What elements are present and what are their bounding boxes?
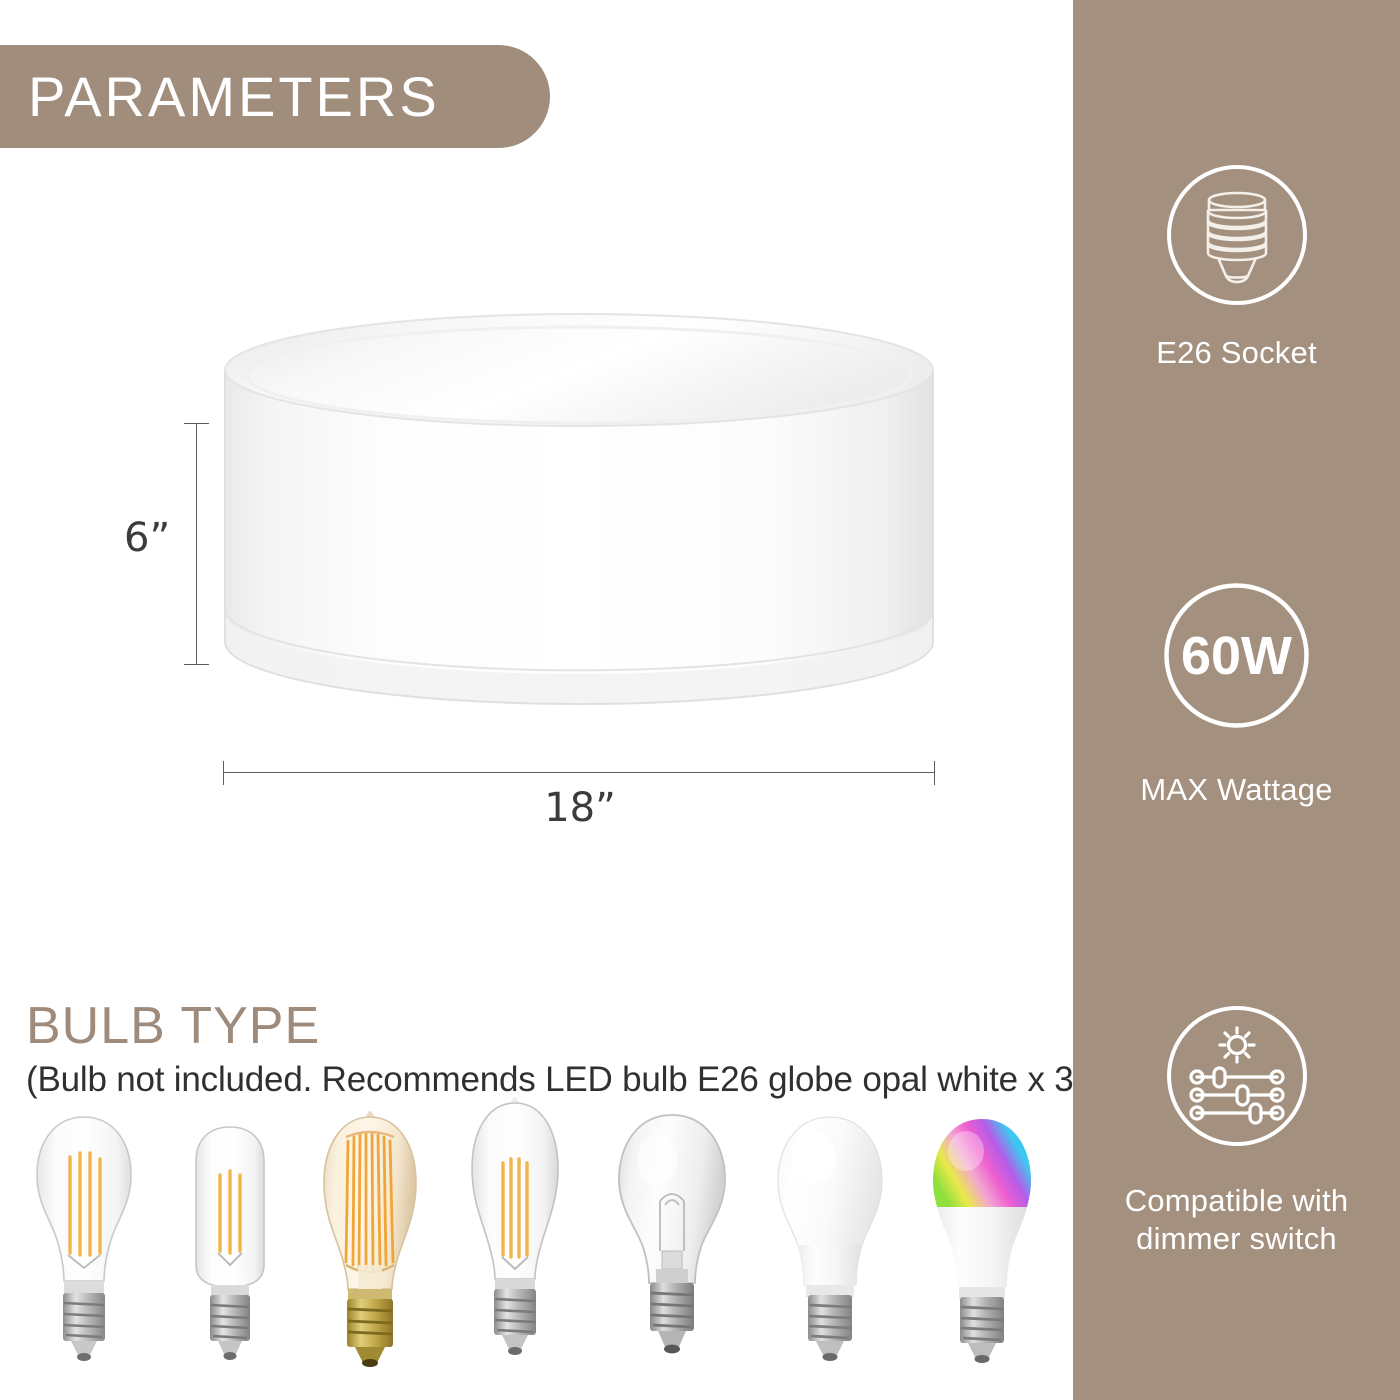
dimmer-slider-icon <box>1161 1000 1313 1152</box>
rgb-smart-bulb <box>928 1111 1036 1363</box>
st64-edison-amber-bulb <box>312 1097 428 1369</box>
bulb-item <box>30 1105 138 1368</box>
bulb-item <box>928 1111 1036 1368</box>
width-tick-left <box>223 761 224 785</box>
bulb-type-heading: BULB TYPE <box>26 996 320 1056</box>
t45-tubular-filament-bulb <box>182 1113 278 1363</box>
height-tick-top <box>184 423 209 424</box>
drum-shade-graphic <box>222 312 936 752</box>
feature-max-wattage: 60W MAX Wattage <box>1073 578 1400 809</box>
height-tick-bottom <box>184 664 209 665</box>
features-panel: E26 Socket 60W MAX Wattage <box>1073 0 1400 1400</box>
width-dimension-line <box>223 772 935 773</box>
wattage-60w-icon: 60W <box>1159 578 1314 733</box>
bulb-item <box>772 1109 888 1368</box>
page-title: PARAMETERS <box>28 69 440 125</box>
width-tick-right <box>934 761 935 785</box>
infographic-page: PARAMETERS <box>0 0 1400 1400</box>
parameters-banner: PARAMETERS <box>0 45 550 148</box>
height-dimension-line <box>196 423 197 665</box>
bulb-item <box>462 1089 568 1370</box>
feature-label: E26 Socket <box>1073 334 1400 372</box>
wattage-60w-icon-wrap: 60W <box>1073 578 1400 733</box>
st58-clear-edison-bulb <box>462 1089 568 1365</box>
height-dimension-label: 6” <box>124 515 170 561</box>
a19-filament-bulb <box>30 1105 138 1363</box>
left-content-column: PARAMETERS <box>0 0 1073 1400</box>
a19-incandescent-bulb <box>612 1105 732 1363</box>
feature-dimmer-compatible: Compatible with dimmer switch <box>1073 1000 1400 1258</box>
product-illustration <box>222 312 936 752</box>
width-dimension-label: 18” <box>0 785 1160 831</box>
bulb-item <box>182 1113 278 1368</box>
wattage-badge-text: 60W <box>1181 626 1292 686</box>
a19-frosted-led-bulb <box>772 1109 888 1363</box>
feature-e26-socket: E26 Socket <box>1073 160 1400 372</box>
e26-socket-icon-wrap <box>1073 160 1400 310</box>
feature-label: MAX Wattage <box>1073 771 1400 809</box>
feature-label: Compatible with dimmer switch <box>1073 1182 1400 1258</box>
bulb-item <box>312 1097 428 1374</box>
e26-socket-icon <box>1162 160 1312 310</box>
bulb-type-gallery <box>0 1110 1073 1380</box>
bulb-item <box>612 1105 732 1368</box>
dimmer-slider-icon-wrap <box>1073 1000 1400 1152</box>
